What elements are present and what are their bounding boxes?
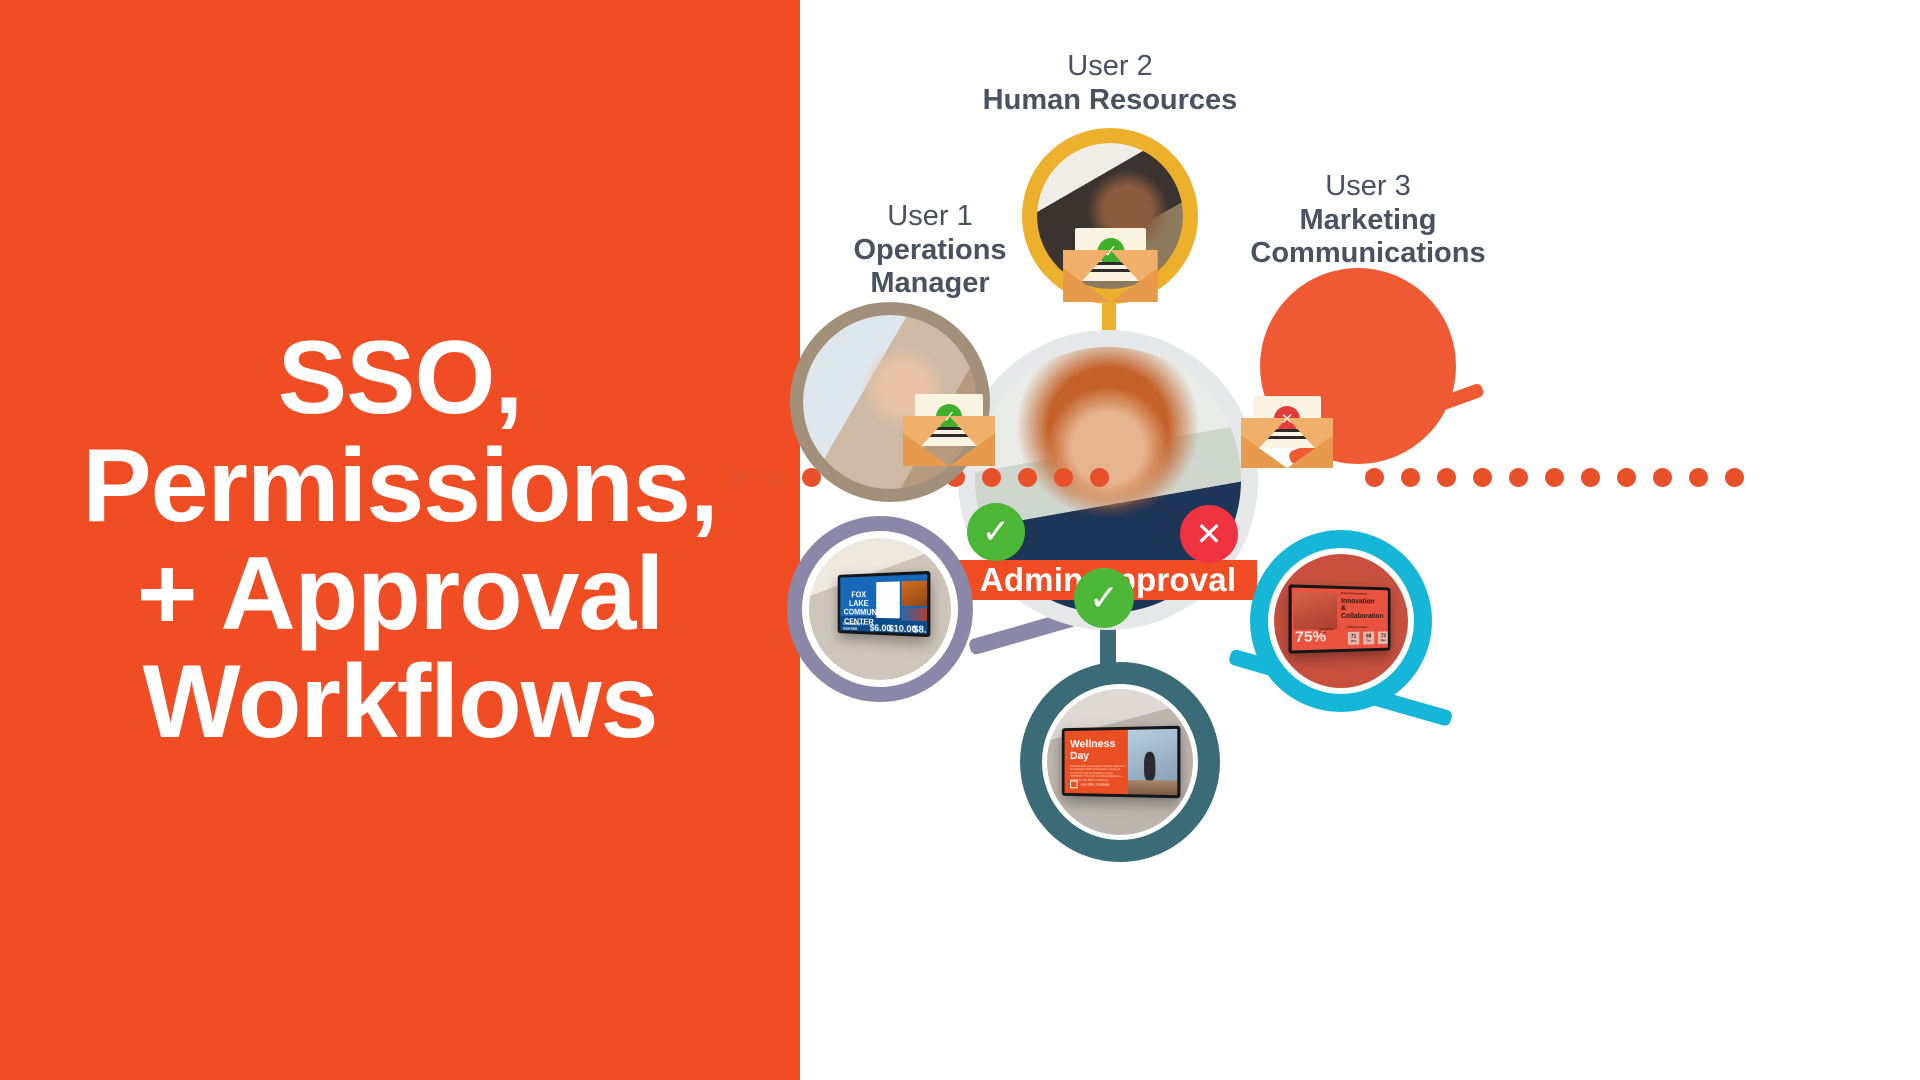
screen-3-headline: Innovation & Collaboration	[1341, 598, 1388, 620]
user-1-envelope[interactable]: ✓	[903, 394, 995, 466]
user-2-role: Human Resources	[940, 84, 1280, 118]
screen-3-forecast-label: 5 Day Forecast	[1347, 625, 1375, 629]
user-2-envelope[interactable]: ✓	[1063, 228, 1158, 302]
user-3-label: User 3 Marketing Communications	[1198, 170, 1538, 271]
screen-1-panel-image-2	[902, 608, 927, 621]
title-panel: SSO, Permissions, + Approval Workflows	[0, 0, 800, 1080]
screen-2-date: July 18th | 10:00AM	[1070, 780, 1109, 788]
screen-2-status-badge[interactable]: ✓	[1074, 568, 1134, 628]
rail-right-dots	[1365, 468, 1744, 487]
screen-1-panel	[876, 581, 900, 618]
screen-3-photo: Brand Announcement Innovation & Collabor…	[1274, 554, 1408, 688]
user-2-label: User 2 Human Resources	[940, 50, 1280, 117]
envelope-flap	[903, 433, 995, 466]
screen-3-forecast-1: 68 Tue	[1363, 632, 1374, 645]
slide-canvas: SSO, Permissions, + Approval Workflows A…	[0, 0, 1920, 1080]
screen-1-price-3: $8.00	[913, 624, 927, 634]
user-3-number: User 3	[1198, 170, 1538, 204]
user-3-role: Marketing Communications	[1198, 204, 1538, 271]
screen-1-display: FOX LAKE COMMUNITY CENTER $6.00 $10.00 $…	[838, 571, 931, 637]
calendar-icon	[1070, 780, 1077, 788]
screen-3-status-badge[interactable]: ✕	[1180, 505, 1238, 563]
screen-3-group-photo	[1294, 592, 1337, 630]
screen-2-headline: Wellness Day	[1070, 739, 1115, 762]
screen-2-runner	[1144, 752, 1155, 781]
screen-2-photo: Wellness Day Wellness Day encourages a h…	[1047, 689, 1193, 835]
screen-1-status-badge[interactable]: ✓	[967, 503, 1025, 561]
screen-3-content: Brand Announcement Innovation & Collabor…	[1292, 588, 1388, 651]
user-2-number: User 2	[940, 50, 1280, 84]
screen-3-forecast-2: 73 Wed	[1378, 631, 1388, 644]
page-title: SSO, Permissions, + Approval Workflows	[30, 324, 770, 757]
screen-2-steps	[1128, 780, 1177, 795]
screen-3-display: Brand Announcement Innovation & Collabor…	[1289, 584, 1391, 653]
envelope-flap	[1241, 435, 1333, 468]
screen-1-content: FOX LAKE COMMUNITY CENTER $6.00 $10.00 $…	[840, 574, 927, 634]
screen-1-panel-image	[902, 580, 927, 606]
user-3-envelope[interactable]: ✕	[1241, 396, 1333, 468]
screen-1-photo: FOX LAKE COMMUNITY CENTER $6.00 $10.00 $…	[809, 538, 951, 680]
approval-workflow-diagram: Admin Approval User 1 Operations Manager…	[800, 0, 1920, 1080]
forecast-label: Mon	[1351, 640, 1356, 643]
envelope-flap	[1063, 268, 1158, 302]
screen-2-display: Wellness Day Wellness Day encourages a h…	[1062, 726, 1181, 799]
screen-3-stat-label: Satisfaction Score	[1319, 629, 1341, 635]
forecast-label: Wed	[1381, 639, 1386, 642]
screen-3-forecast-0: 71 Mon	[1348, 632, 1359, 645]
forecast-label: Tue	[1367, 639, 1371, 642]
screen-2-date-text: July 18th | 10:00AM	[1080, 783, 1109, 787]
screen-1-footer: COMMUNITY CENTER CONCESSION	[843, 622, 868, 634]
screen-2-content: Wellness Day Wellness Day encourages a h…	[1065, 729, 1178, 795]
